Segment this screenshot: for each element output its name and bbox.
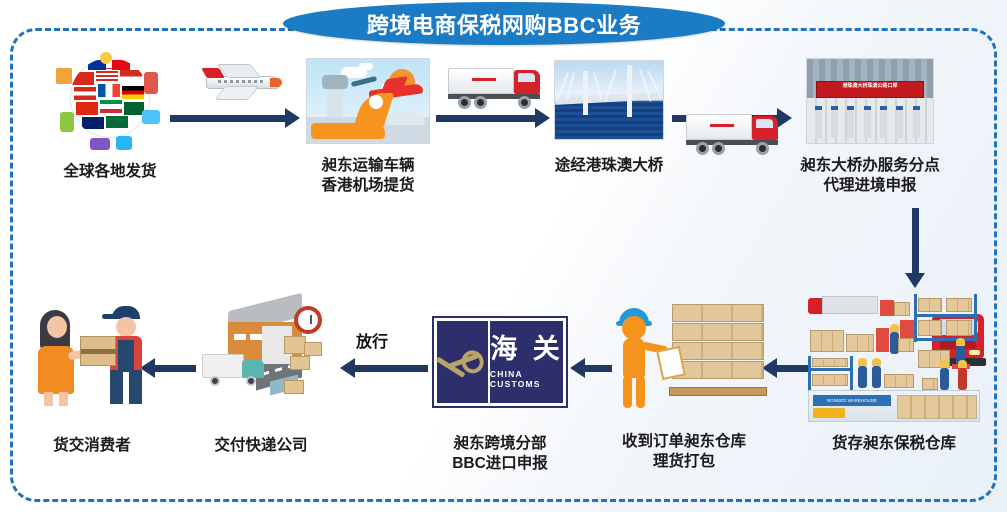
bridge-photo: [554, 60, 664, 140]
node-customs: 海 关 CHINA CUSTOMS 昶东跨境分部 BBC进口申报: [434, 318, 566, 406]
arrow-airport-to-bridge: [436, 108, 550, 128]
node-customs-label: 昶东跨境分部 BBC进口申报: [400, 434, 600, 474]
node-bridge: 途经港珠澳大桥: [554, 60, 664, 140]
node-courier: 交付快递公司: [198, 298, 324, 402]
node-courier-label: 交付快递公司: [185, 436, 337, 456]
node-bonded: BONDED WAREHOUSE 货存昶东保税仓库: [806, 294, 982, 422]
node-bridge-label: 途经港珠澳大桥: [547, 156, 671, 176]
airplane-icon: [200, 62, 284, 104]
node-airport-label: 昶东运输车辆 香港机场提货: [281, 156, 455, 196]
worker-pallet-illustration: [604, 296, 764, 412]
diagram-canvas: 跨境电商保税网购BBC业务: [0, 0, 1007, 512]
bonded-warehouse-sign: BONDED WAREHOUSE: [813, 395, 891, 406]
customs-emblem: [437, 321, 490, 403]
arrow-customs-to-courier: [340, 358, 428, 378]
node-consumer-label: 货交消费者: [23, 436, 161, 456]
node-origin-label: 全球各地发货: [49, 162, 171, 182]
arrow-bonded-to-picking: [762, 358, 808, 378]
airport-illustration: [306, 58, 430, 144]
node-airport: 昶东运输车辆 香港机场提货: [306, 58, 430, 144]
node-bonded-label: 货存昶东保税仓库: [798, 434, 990, 454]
arrow-port-to-bonded: [904, 208, 926, 288]
arrow-label-release: 放行: [356, 328, 388, 352]
node-port: 港珠澳大桥珠澳公路口岸 昶东大桥办服务分点 代理进境申报: [806, 58, 934, 144]
node-consumer: 货交消费者: [28, 300, 156, 408]
arrow-origin-to-airport: [170, 108, 300, 128]
hzmb-port-photo: 港珠澳大桥珠澳公路口岸: [806, 58, 934, 144]
warehouse-delivery-illustration: [198, 298, 324, 402]
delivery-handoff-illustration: [28, 300, 156, 408]
customs-chinese-text: 海 关: [490, 336, 562, 363]
truck-side-icon-2: [686, 110, 782, 156]
customs-english-text: CHINA CUSTOMS: [490, 369, 563, 389]
bonded-warehouse-illustration: BONDED WAREHOUSE: [806, 294, 982, 422]
node-picking-label: 收到订单昶东仓库 理货打包: [568, 432, 800, 472]
node-origin: 全球各地发货: [56, 52, 164, 152]
port-banner: 港珠澳大桥珠澳公路口岸: [816, 81, 924, 98]
diagram-title-banner: 跨境电商保税网购BBC业务: [283, 2, 725, 45]
node-picking: 收到订单昶东仓库 理货打包: [604, 296, 764, 412]
china-customs-sign: 海 关 CHINA CUSTOMS: [434, 318, 566, 406]
truck-side-icon-1: [448, 64, 544, 110]
arrow-picking-to-customs: [570, 358, 612, 378]
page-title: 跨境电商保税网购BBC业务: [367, 8, 641, 40]
globe-flags-icon: [56, 52, 164, 152]
pallet-boxes: [672, 304, 764, 396]
node-port-label: 昶东大桥办服务分点 代理进境申报: [770, 156, 970, 196]
